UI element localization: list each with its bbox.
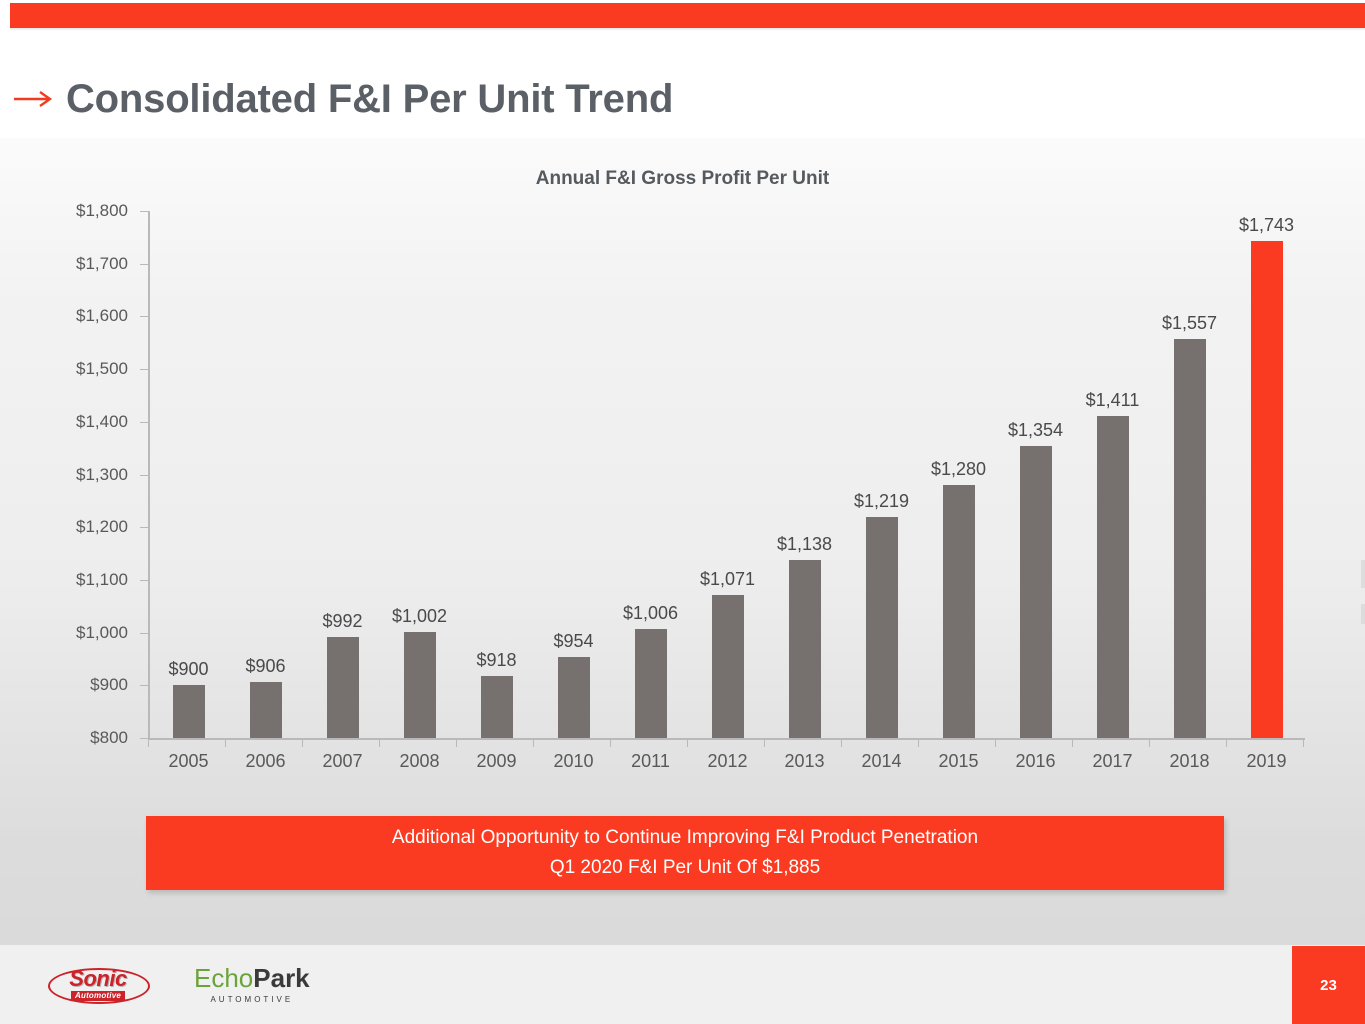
bar-value-label: $1,002 (392, 606, 447, 627)
x-axis-label-2007: 2007 (304, 751, 381, 772)
y-axis-tick-label: $1,100 (76, 570, 128, 590)
x-axis-label-2019: 2019 (1228, 751, 1305, 772)
bar-value-label: $1,743 (1239, 215, 1294, 236)
bar-2016[interactable]: $1,354 (1020, 446, 1052, 738)
echopark-logo-park: Park (253, 963, 309, 993)
x-axis-tick (1072, 738, 1073, 747)
y-axis-tick (140, 685, 148, 686)
x-axis-label-2012: 2012 (689, 751, 766, 772)
x-axis-tick (1226, 738, 1227, 747)
bar-2018[interactable]: $1,557 (1174, 339, 1206, 738)
bar-slot: $1,006 (612, 211, 689, 738)
y-axis-tick-label: $1,500 (76, 359, 128, 379)
bar-2017[interactable]: $1,411 (1097, 416, 1129, 738)
sonic-logo-ellipse (48, 968, 150, 1004)
x-axis-label-2011: 2011 (612, 751, 689, 772)
bar-value-label: $1,138 (777, 534, 832, 555)
x-axis-tick (148, 738, 149, 747)
bar-series: $900$906$992$1,002$918$954$1,006$1,071$1… (150, 211, 1305, 738)
callout-box: Additional Opportunity to Continue Impro… (146, 816, 1224, 890)
y-axis-tick (140, 316, 148, 317)
bar-2010[interactable]: $954 (558, 657, 590, 738)
x-axis-label-2005: 2005 (150, 751, 227, 772)
callout-line-1: Additional Opportunity to Continue Impro… (392, 826, 978, 850)
bar-value-label: $1,071 (700, 569, 755, 590)
echopark-logo: EchoPark AUTOMOTIVE (194, 965, 310, 1004)
y-axis-labels: $1,800$1,700$1,600$1,500$1,400$1,300$1,2… (60, 205, 138, 738)
bar-slot: $1,138 (766, 211, 843, 738)
y-axis-tick (140, 527, 148, 528)
bar-2009[interactable]: $918 (481, 676, 513, 738)
bar-2006[interactable]: $906 (250, 682, 282, 738)
slide: Consolidated F&I Per Unit Trend Annual F… (0, 0, 1365, 1024)
page-number: 23 (1320, 977, 1337, 994)
x-axis-label-2010: 2010 (535, 751, 612, 772)
x-axis-label-2013: 2013 (766, 751, 843, 772)
x-axis-label-2018: 2018 (1151, 751, 1228, 772)
x-axis-label-2017: 2017 (1074, 751, 1151, 772)
edge-artifact-top (1361, 560, 1365, 588)
bar-slot: $1,280 (920, 211, 997, 738)
y-axis-tick-label: $1,300 (76, 465, 128, 485)
bar-value-label: $906 (245, 656, 285, 677)
bar-2014[interactable]: $1,219 (866, 517, 898, 738)
bar-slot: $1,354 (997, 211, 1074, 738)
bar-slot: $954 (535, 211, 612, 738)
bar-chart: $1,800$1,700$1,600$1,500$1,400$1,300$1,2… (60, 205, 1305, 770)
bar-2007[interactable]: $992 (327, 637, 359, 738)
echopark-logo-subtext: AUTOMOTIVE (210, 995, 293, 1004)
page-title: Consolidated F&I Per Unit Trend (66, 77, 673, 122)
x-axis-tick (225, 738, 226, 747)
bar-slot: $1,071 (689, 211, 766, 738)
callout-line-2: Q1 2020 F&I Per Unit Of $1,885 (550, 856, 820, 880)
chart-title: Annual F&I Gross Profit Per Unit (0, 168, 1365, 190)
y-axis-tick (140, 422, 148, 423)
x-axis-tick (610, 738, 611, 747)
y-axis-tick (140, 211, 148, 212)
y-axis-tick-label: $1,700 (76, 254, 128, 274)
x-axis-tick (687, 738, 688, 747)
x-axis-tick (379, 738, 380, 747)
bar-2015[interactable]: $1,280 (943, 485, 975, 738)
arrow-right-icon (10, 89, 58, 109)
x-axis-label-2014: 2014 (843, 751, 920, 772)
bar-slot: $1,743 (1228, 211, 1305, 738)
bar-value-label: $1,411 (1086, 390, 1140, 411)
bar-value-label: $900 (168, 659, 208, 680)
bar-slot: $992 (304, 211, 381, 738)
y-axis-tick-label: $1,400 (76, 412, 128, 432)
x-axis-label-2009: 2009 (458, 751, 535, 772)
bar-value-label: $1,354 (1008, 420, 1063, 441)
bar-value-label: $1,219 (854, 491, 909, 512)
bar-2019[interactable]: $1,743 (1251, 241, 1283, 738)
bar-value-label: $992 (322, 611, 362, 632)
bar-slot: $1,411 (1074, 211, 1151, 738)
x-axis-tick (1303, 738, 1304, 747)
echopark-logo-echo: Echo (194, 963, 253, 993)
top-accent-bar-shadow (10, 28, 1365, 31)
bar-value-label: $954 (553, 631, 593, 652)
x-axis-tick (1149, 738, 1150, 747)
echopark-logo-wordmark: EchoPark (194, 965, 310, 991)
y-axis-tick (140, 369, 148, 370)
y-axis-tick (140, 264, 148, 265)
title-row: Consolidated F&I Per Unit Trend (0, 60, 1365, 138)
bar-2013[interactable]: $1,138 (789, 560, 821, 738)
x-axis-tick (995, 738, 996, 747)
x-axis-tick (841, 738, 842, 747)
x-axis-label-2016: 2016 (997, 751, 1074, 772)
x-axis-label-2008: 2008 (381, 751, 458, 772)
x-axis-line (148, 738, 1305, 740)
page-number-box: 23 (1292, 946, 1365, 1024)
bar-2011[interactable]: $1,006 (635, 629, 667, 738)
bar-2008[interactable]: $1,002 (404, 632, 436, 738)
bar-2012[interactable]: $1,071 (712, 595, 744, 738)
x-axis-label-2015: 2015 (920, 751, 997, 772)
bar-2005[interactable]: $900 (173, 685, 205, 738)
bar-slot: $900 (150, 211, 227, 738)
x-axis-label-2006: 2006 (227, 751, 304, 772)
x-axis-tick (456, 738, 457, 747)
bar-slot: $918 (458, 211, 535, 738)
bar-slot: $1,557 (1151, 211, 1228, 738)
top-accent-bar (10, 3, 1365, 28)
plot-area: $900$906$992$1,002$918$954$1,006$1,071$1… (150, 211, 1305, 738)
x-axis-tick (533, 738, 534, 747)
y-axis-tick (140, 475, 148, 476)
y-axis-tick-label: $1,600 (76, 306, 128, 326)
x-axis-tick (302, 738, 303, 747)
sonic-automotive-logo: Sonic Automotive (48, 964, 148, 1004)
y-axis-tick-label: $900 (90, 675, 128, 695)
x-axis-tick (918, 738, 919, 747)
bar-slot: $1,219 (843, 211, 920, 738)
x-axis-tick (764, 738, 765, 747)
bar-value-label: $918 (476, 650, 516, 671)
edge-artifact-bottom (1361, 604, 1365, 624)
y-axis-tick-label: $1,800 (76, 201, 128, 221)
x-axis-labels: 2005200620072008200920102011201220132014… (150, 751, 1305, 772)
bar-value-label: $1,280 (931, 459, 986, 480)
bar-slot: $1,002 (381, 211, 458, 738)
footer-logos: Sonic Automotive EchoPark AUTOMOTIVE (48, 958, 310, 1010)
y-axis-tick (140, 633, 148, 634)
y-axis-tick (140, 738, 148, 739)
bar-slot: $906 (227, 211, 304, 738)
bar-value-label: $1,557 (1162, 313, 1217, 334)
y-axis-tick-label: $800 (90, 728, 128, 748)
bar-value-label: $1,006 (623, 603, 678, 624)
y-axis-tick-label: $1,200 (76, 517, 128, 537)
y-axis-tick (140, 580, 148, 581)
y-axis-tick-label: $1,000 (76, 623, 128, 643)
